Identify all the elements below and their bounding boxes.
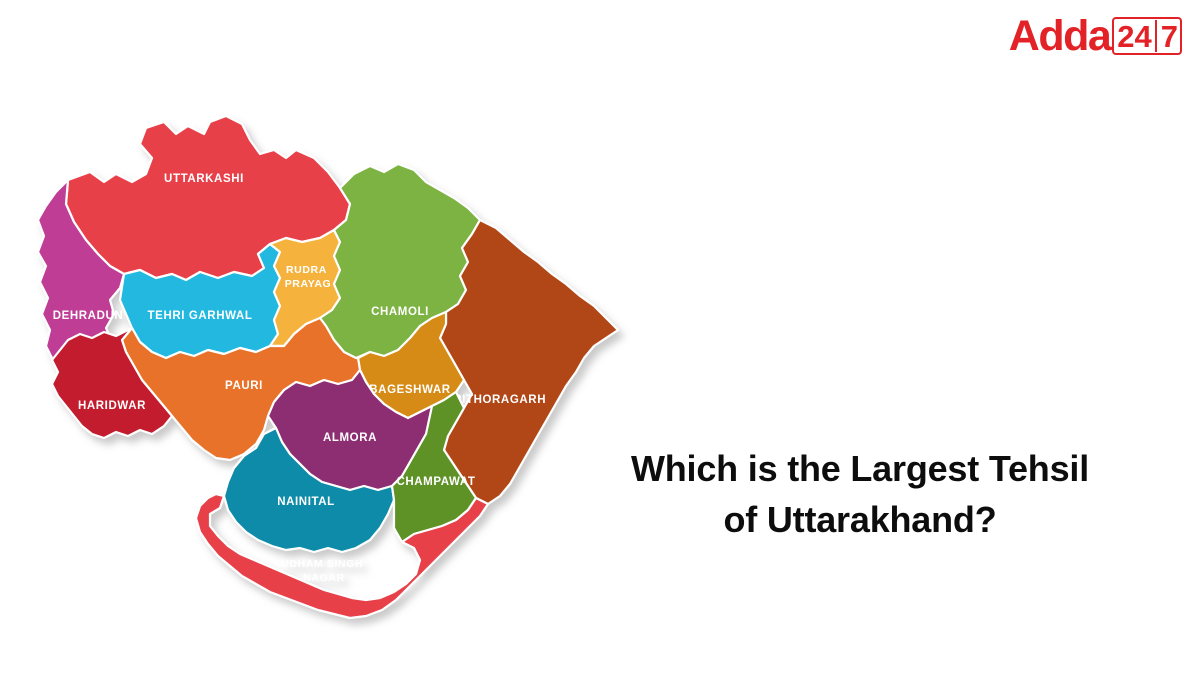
page-title: Which is the Largest Tehsil of Uttarakha… xyxy=(580,443,1140,545)
page-title-line-2: of Uttarakhand? xyxy=(580,494,1140,545)
map-svg: UTTARKASHI DEHRADUN TEHRI GARHWAL RUDRA … xyxy=(28,62,668,632)
uttarakhand-map: UTTARKASHI DEHRADUN TEHRI GARHWAL RUDRA … xyxy=(28,62,668,632)
adda247-logo[interactable]: Adda 24 7 xyxy=(1009,12,1182,60)
page-title-line-1: Which is the Largest Tehsil xyxy=(580,443,1140,494)
logo-wordmark: Adda xyxy=(1009,15,1111,58)
logo-number-7: 7 xyxy=(1155,20,1178,52)
logo-number-24: 24 xyxy=(1117,20,1151,52)
logo-number-box: 24 7 xyxy=(1112,17,1182,55)
map-regions: UTTARKASHI DEHRADUN TEHRI GARHWAL RUDRA … xyxy=(38,116,618,618)
